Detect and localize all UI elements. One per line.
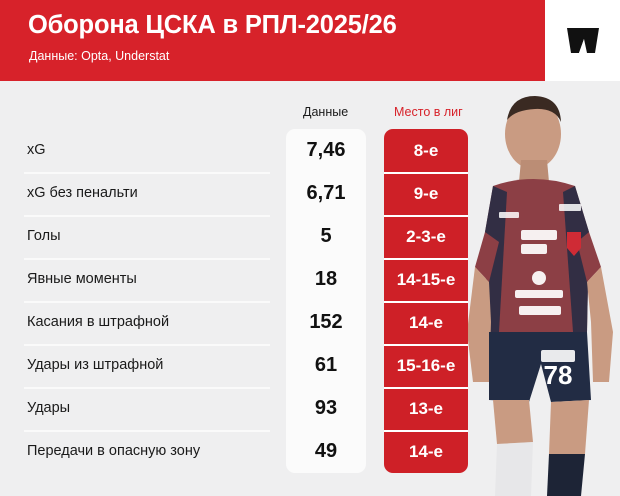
metric-label: Голы	[27, 215, 61, 258]
row-divider	[24, 215, 270, 217]
column-header-data: Данные	[303, 105, 348, 119]
metric-rank: 13-е	[384, 387, 468, 430]
logo-container	[545, 0, 620, 81]
metric-value: 6,71	[286, 172, 366, 215]
table-row: Передачи в опасную зону 49 14-е	[0, 430, 620, 473]
table-row: Касания в штрафной 152 14-е	[0, 301, 620, 344]
column-header-league-rank: Место в лиге	[394, 105, 469, 119]
metric-rank: 14-е	[384, 430, 468, 473]
metric-rank: 15-16-е	[384, 344, 468, 387]
metric-rank: 14-15-е	[384, 258, 468, 301]
metric-rank: 8-е	[384, 129, 468, 172]
metric-value: 18	[286, 258, 366, 301]
metric-value: 49	[286, 430, 366, 473]
stats-rows: xG 7,46 8-е xG без пенальти 6,71 9-е Гол…	[0, 129, 620, 473]
table-row: Удары 93 13-е	[0, 387, 620, 430]
metric-rank: 9-е	[384, 172, 468, 215]
table-row: Голы 5 2-3-е	[0, 215, 620, 258]
table-row: xG без пенальти 6,71 9-е	[0, 172, 620, 215]
page-title: Оборона ЦСКА в РПЛ-2025/26	[28, 11, 397, 40]
table-row: xG 7,46 8-е	[0, 129, 620, 172]
table-row: Явные моменты 18 14-15-е	[0, 258, 620, 301]
metric-label: Передачи в опасную зону	[27, 430, 200, 473]
metric-rank: 14-е	[384, 301, 468, 344]
metric-value: 61	[286, 344, 366, 387]
metric-label: xG без пенальти	[27, 172, 138, 215]
metric-value: 93	[286, 387, 366, 430]
stats-table: xG 7,46 8-е xG без пенальти 6,71 9-е Гол…	[0, 129, 620, 473]
header: Оборона ЦСКА в РПЛ-2025/26 Данные: Opta,…	[0, 0, 620, 81]
metric-value: 152	[286, 301, 366, 344]
metric-label: Явные моменты	[27, 258, 137, 301]
metric-label: xG	[27, 129, 46, 172]
metric-label: Удары из штрафной	[27, 344, 163, 387]
infographic-root: Оборона ЦСКА в РПЛ-2025/26 Данные: Opta,…	[0, 0, 620, 496]
metric-rank: 2-3-е	[384, 215, 468, 258]
metric-label: Касания в штрафной	[27, 301, 169, 344]
data-source-subtitle: Данные: Opta, Understat	[29, 49, 169, 63]
metric-value: 7,46	[286, 129, 366, 172]
metric-value: 5	[286, 215, 366, 258]
tribuna-w-logo-icon	[565, 26, 601, 56]
table-row: Удары из штрафной 61 15-16-е	[0, 344, 620, 387]
metric-label: Удары	[27, 387, 70, 430]
